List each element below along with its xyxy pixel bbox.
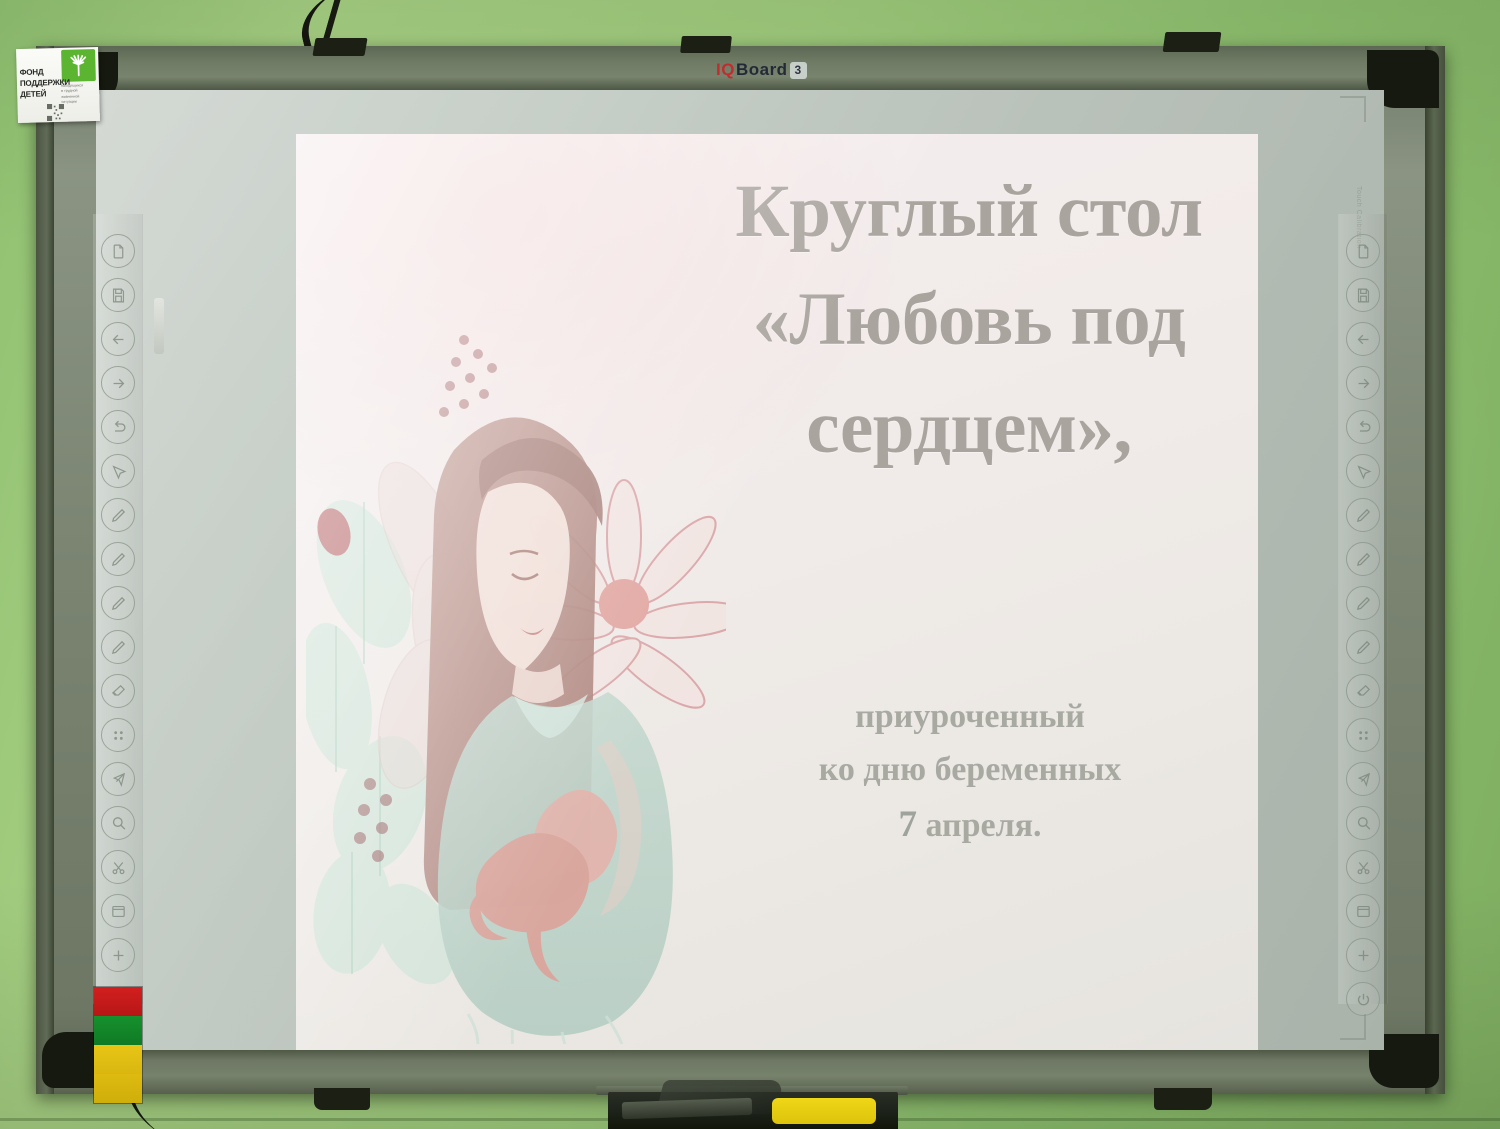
spotlight-icon[interactable]	[1346, 762, 1380, 796]
date-number: 7	[898, 804, 917, 845]
pen-icon[interactable]	[101, 630, 135, 664]
mount-tab	[314, 1088, 370, 1110]
green-marker[interactable]	[94, 1016, 142, 1045]
spotlight-icon[interactable]	[101, 762, 135, 796]
cursor-icon[interactable]	[101, 454, 135, 488]
magnifier-icon[interactable]	[101, 806, 135, 840]
surface-cable-clip	[154, 298, 164, 354]
qr-code-icon	[47, 104, 64, 121]
arrow-left-icon[interactable]	[101, 322, 135, 356]
arrow-left-icon[interactable]	[1346, 322, 1380, 356]
save-icon[interactable]	[1346, 278, 1380, 312]
title-line-1: Круглый стол	[696, 158, 1242, 266]
window-icon[interactable]	[101, 894, 135, 928]
frame-right-edge	[1425, 46, 1445, 1094]
mount-tab	[312, 38, 367, 56]
eraser-icon[interactable]	[1346, 674, 1380, 708]
title-line-2: «Любовь под	[696, 266, 1242, 374]
undo-icon[interactable]	[101, 410, 135, 444]
save-icon[interactable]	[101, 278, 135, 312]
dots-grid-icon[interactable]	[101, 718, 135, 752]
pen-icon[interactable]	[1346, 498, 1380, 532]
mount-tab	[1163, 32, 1222, 52]
sticker-fine-4: ситуации	[61, 99, 97, 105]
pen-icon[interactable]	[101, 586, 135, 620]
mount-tab	[680, 36, 732, 53]
yellow-marker[interactable]	[94, 1045, 142, 1074]
photo-scene: IQBoard3 Touch Calibration	[0, 0, 1500, 1129]
plus-icon[interactable]	[101, 938, 135, 972]
pen-icon[interactable]	[1346, 586, 1380, 620]
subtitle-line-1: приуроченный	[700, 690, 1240, 743]
date-month: апреля.	[917, 807, 1042, 844]
title-line-3: сердцем»,	[696, 374, 1242, 482]
pen-icon[interactable]	[101, 542, 135, 576]
yellow-marker-2[interactable]	[94, 1074, 142, 1103]
scissors-icon[interactable]	[1346, 850, 1380, 884]
red-marker[interactable]	[94, 987, 142, 1016]
calibration-mark-top-right	[1340, 96, 1366, 122]
new-page-icon[interactable]	[1346, 234, 1380, 268]
power-icon[interactable]	[1346, 982, 1380, 1016]
projected-slide: Круглый стол «Любовь под сердцем», приур…	[296, 134, 1258, 1050]
yellow-eraser[interactable]	[772, 1098, 876, 1124]
mount-tab	[1154, 1088, 1212, 1110]
subtitle-line-2: ко дню беременных	[700, 743, 1240, 796]
window-icon[interactable]	[1346, 894, 1380, 928]
undo-icon[interactable]	[1346, 410, 1380, 444]
cursor-icon[interactable]	[1346, 454, 1380, 488]
scissors-icon[interactable]	[101, 850, 135, 884]
pen-icon[interactable]	[1346, 542, 1380, 576]
right-toolbar[interactable]	[1337, 228, 1389, 1022]
marker-tray[interactable]	[93, 986, 143, 1104]
interactive-whiteboard: IQBoard3 Touch Calibration	[36, 46, 1445, 1094]
logo-iq-text: IQ	[716, 60, 735, 80]
frame-left-edge	[36, 46, 54, 1094]
plus-icon[interactable]	[1346, 938, 1380, 972]
slide-subtitle: приуроченный ко дню беременных 7 апреля.	[700, 690, 1240, 854]
sticker-fineprint: находящихся в трудной жизненной ситуации	[61, 83, 98, 105]
logo-chip: 3	[790, 62, 807, 79]
logo-board-text: Board	[736, 60, 788, 80]
arrow-right-icon[interactable]	[1346, 366, 1380, 400]
pregnant-woman-illustration	[306, 244, 726, 1044]
pen-icon[interactable]	[1346, 630, 1380, 664]
dots-grid-icon[interactable]	[1346, 718, 1380, 752]
pen-icon[interactable]	[101, 498, 135, 532]
whiteboard-surface[interactable]: Touch Calibration	[96, 90, 1384, 1050]
arrow-right-icon[interactable]	[101, 366, 135, 400]
eraser-icon[interactable]	[101, 674, 135, 708]
subtitle-date: 7 апреля.	[700, 796, 1240, 854]
iqboard-logo: IQBoard3	[716, 60, 807, 80]
magnifier-icon[interactable]	[1346, 806, 1380, 840]
left-toolbar[interactable]	[92, 228, 144, 978]
new-page-icon[interactable]	[101, 234, 135, 268]
slide-title: Круглый стол «Любовь под сердцем»,	[696, 158, 1242, 482]
